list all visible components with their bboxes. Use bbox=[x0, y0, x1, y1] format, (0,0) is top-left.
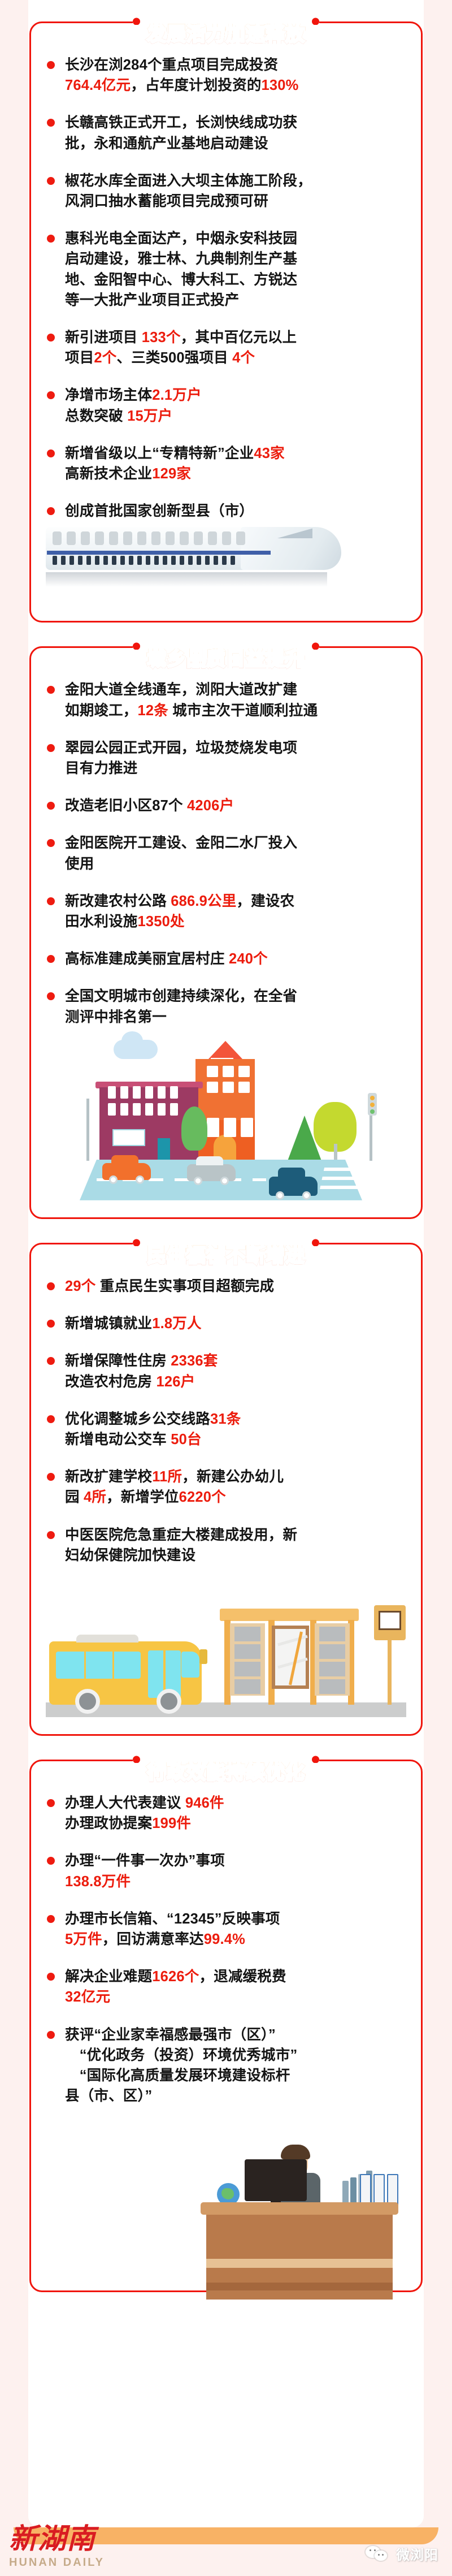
item-line: 使用 bbox=[65, 854, 406, 874]
list-item: 改造老旧小区87个 4206户 bbox=[46, 796, 406, 816]
highlight-value: 946件 bbox=[185, 1795, 224, 1811]
item-text: 等一大批产业项目正式投产 bbox=[65, 292, 239, 308]
item-line: 风洞口抽水蓄能项目完成预可研 bbox=[65, 191, 406, 211]
item-line: 椒花水库全面进入大坝主体施工阶段， bbox=[65, 171, 406, 191]
highlight-value: 1350处 bbox=[138, 914, 185, 930]
bus-stop-illustration bbox=[46, 1570, 406, 1717]
train-illustration bbox=[46, 525, 406, 591]
item-text: 新增电动公交车 bbox=[65, 1432, 171, 1447]
list-item: 全国文明城市创建持续深化，在全省测评中排名第一 bbox=[46, 986, 406, 1027]
item-text: 如期竣工， bbox=[65, 703, 138, 719]
list-item: 新改建农村公路 686.9公里，建设农田水利设施1350处 bbox=[46, 891, 406, 932]
item-line: 优化调整城乡公交线路31条 bbox=[65, 1409, 406, 1429]
card-top-notch bbox=[133, 641, 319, 651]
bullet-dot-icon bbox=[47, 1531, 55, 1539]
section-card-urban-rural-quality: 金阳大道全线通车，浏阳大道改扩建如期竣工，12条 城市主次干道顺利拉通翠园公园正… bbox=[29, 646, 423, 1218]
item-line: 测评中排名第一 bbox=[65, 1007, 406, 1027]
item-line: 新增城镇就业1.8万人 bbox=[65, 1313, 406, 1334]
item-text: 重点民生实事项目超额完成 bbox=[95, 1278, 274, 1294]
list-item: 解决企业难题1626个，退减缓税费32亿元 bbox=[46, 1966, 406, 2007]
item-text: ，占年度计划投资的 bbox=[131, 77, 261, 93]
item-text: 启动建设，雅士林、九典制剂生产基 bbox=[65, 251, 297, 267]
list-item: 长沙在浏284个重点项目完成投资764.4亿元，占年度计划投资的130% bbox=[46, 55, 406, 96]
bullet-dot-icon bbox=[47, 235, 55, 243]
item-text: 新引进项目 bbox=[65, 330, 142, 345]
list-item: 翠园公园正式开园，垃圾焚烧发电项目有力推进 bbox=[46, 738, 406, 779]
highlight-value: 31条 bbox=[210, 1411, 241, 1427]
item-text: 椒花水库全面进入大坝主体施工阶段， bbox=[65, 173, 312, 189]
item-line: 田水利设施1350处 bbox=[65, 911, 406, 932]
list-item: 中医医院危急重症大楼建成投用，新妇幼保健院加快建设 bbox=[46, 1525, 406, 1566]
item-line: 县（市、区）” bbox=[65, 2086, 406, 2106]
footer: 新湖南 HUNAN DAILY 微浏阳 bbox=[0, 2514, 452, 2576]
highlight-value: 12条 bbox=[138, 703, 168, 719]
section-card-peoples-livelihood: 29个 重点民生实事项目超额完成新增城镇就业1.8万人新增保障性住房 2336套… bbox=[29, 1243, 423, 1736]
list-item: 获评“企业家幸福感最强市（区）” “优化政务（投资）环境优秀城市” “国际化高质… bbox=[46, 2025, 406, 2107]
wechat-account-badge: 微浏阳 bbox=[366, 2544, 438, 2564]
item-line: 总数突破 15万户 bbox=[65, 406, 406, 426]
section-peoples-livelihood: 民生福祉不断增进29个 重点民生实事项目超额完成新增城镇就业1.8万人新增保障性… bbox=[29, 1221, 423, 1736]
item-text: 长沙在浏284个重点项目完成投资 bbox=[65, 57, 278, 73]
list-item: 惠科光电全面达产，中烟永安科技园启动建设，雅士林、九典制剂生产基地、金阳智中心、… bbox=[46, 228, 406, 310]
bullet-dot-icon bbox=[47, 1799, 55, 1807]
list-item: 高标准建成美丽宜居村庄 240个 bbox=[46, 949, 406, 969]
bullet-dot-icon bbox=[47, 391, 55, 399]
list-item: 新改扩建学校11所，新建公办幼儿园 4所，新增学位6220个 bbox=[46, 1467, 406, 1507]
item-line: 长赣高铁正式开工，长浏快线成功获 bbox=[65, 113, 406, 133]
card-top-notch bbox=[133, 1754, 319, 1765]
bullet-dot-icon bbox=[47, 1973, 55, 1981]
bullet-list: 办理人大代表建议 946件办理政协提案199件办理“一件事一次办”事项138.8… bbox=[46, 1793, 406, 2106]
item-text: 测评中排名第一 bbox=[65, 1009, 167, 1025]
item-line: 解决企业难题1626个，退减缓税费 bbox=[65, 1966, 406, 1987]
item-line: 新增电动公交车 50台 bbox=[65, 1429, 406, 1450]
item-line: 等一大批产业项目正式投产 bbox=[65, 290, 406, 310]
highlight-value: 4所 bbox=[84, 1489, 106, 1505]
notch-dot-right bbox=[312, 18, 319, 25]
item-text: 优化调整城乡公交线路 bbox=[65, 1411, 210, 1427]
bullet-dot-icon bbox=[47, 1282, 55, 1290]
bullet-dot-icon bbox=[47, 992, 55, 1000]
city-street-illustration bbox=[46, 1031, 406, 1200]
item-text: ，其中百亿元以上 bbox=[181, 330, 297, 345]
list-item: 新增保障性住房 2336套改造农村危房 126户 bbox=[46, 1351, 406, 1391]
bullet-dot-icon bbox=[47, 1320, 55, 1328]
item-text: 新增保障性住房 bbox=[65, 1353, 171, 1369]
section-card-administrative-efficiency: 办理人大代表建议 946件办理政协提案199件办理“一件事一次办”事项138.8… bbox=[29, 1760, 423, 2292]
item-text: 办理“一件事一次办”事项 bbox=[65, 1853, 225, 1869]
item-text: 高新技术企业 bbox=[65, 466, 152, 482]
bullet-dot-icon bbox=[47, 1915, 55, 1923]
item-text: ，回访满意率达 bbox=[102, 1931, 204, 1947]
item-text: 新改建农村公路 bbox=[65, 893, 171, 909]
list-item: 办理“一件事一次办”事项138.8万件 bbox=[46, 1851, 406, 1891]
item-text: 获评“企业家幸福感最强市（区）” bbox=[65, 2027, 276, 2043]
item-line: 批，永和通航产业基地启动建设 bbox=[65, 133, 406, 154]
publisher-logo: 新湖南 HUNAN DAILY bbox=[9, 2525, 105, 2569]
highlight-value: 50台 bbox=[171, 1432, 201, 1447]
highlight-value: 4个 bbox=[232, 350, 255, 366]
notch-dot-right bbox=[312, 643, 319, 650]
item-line: 中医医院危急重症大楼建成投用，新 bbox=[65, 1525, 406, 1545]
highlight-value: 240个 bbox=[229, 951, 268, 967]
notch-dot-right bbox=[312, 1756, 319, 1763]
notch-dot-left bbox=[133, 1239, 140, 1246]
item-line: 如期竣工，12条 城市主次干道顺利拉通 bbox=[65, 701, 406, 721]
sections-container: 发展活力加速释放长沙在浏284个重点项目完成投资764.4亿元，占年度计划投资的… bbox=[0, 0, 452, 2292]
item-line: 138.8万件 bbox=[65, 1872, 406, 1892]
bullet-list: 29个 重点民生实事项目超额完成新增城镇就业1.8万人新增保障性住房 2336套… bbox=[46, 1276, 406, 1566]
item-line: 改造老旧小区87个 4206户 bbox=[65, 796, 406, 816]
item-text: 、三类500强项目 bbox=[117, 350, 233, 366]
bullet-dot-icon bbox=[47, 1357, 55, 1365]
item-line: 翠园公园正式开园，垃圾焚烧发电项 bbox=[65, 738, 406, 758]
bullet-dot-icon bbox=[47, 1857, 55, 1865]
section-urban-rural-quality: 城乡品质日益提升金阳大道全线通车，浏阳大道改扩建如期竣工，12条 城市主次干道顺… bbox=[29, 625, 423, 1218]
item-line: 新改扩建学校11所，新建公办幼儿 bbox=[65, 1467, 406, 1487]
infographic-page: 发展活力加速释放长沙在浏284个重点项目完成投资764.4亿元，占年度计划投资的… bbox=[0, 0, 452, 2576]
item-text: 创成首批国家创新型县（市） bbox=[65, 503, 254, 519]
highlight-value: 764.4亿元 bbox=[65, 77, 131, 93]
item-line: 改造农村危房 126户 bbox=[65, 1372, 406, 1392]
item-text: 金阳大道全线通车，浏阳大道改扩建 bbox=[65, 682, 297, 698]
item-line: 园 4所，新增学位6220个 bbox=[65, 1487, 406, 1507]
item-line: 高新技术企业129家 bbox=[65, 464, 406, 484]
item-text: 长赣高铁正式开工，长浏快线成功获 bbox=[65, 115, 297, 131]
item-line: 地、金阳智中心、博大科工、方锐达 bbox=[65, 270, 406, 290]
item-line: 新引进项目 133个，其中百亿元以上 bbox=[65, 327, 406, 348]
item-line: 办理人大代表建议 946件 bbox=[65, 1793, 406, 1813]
bullet-dot-icon bbox=[47, 897, 55, 905]
highlight-value: 4206户 bbox=[187, 798, 234, 814]
item-line: “优化政务（投资）环境优秀城市” bbox=[65, 2045, 406, 2065]
item-line: 净增市场主体2.1万户 bbox=[65, 385, 406, 405]
item-line: 创成首批国家创新型县（市） bbox=[65, 501, 406, 521]
item-line: 获评“企业家幸福感最强市（区）” bbox=[65, 2025, 406, 2045]
bullet-dot-icon bbox=[47, 119, 55, 127]
item-line: 新改建农村公路 686.9公里，建设农 bbox=[65, 891, 406, 911]
item-text: 办理市长信箱、“12345”反映事项 bbox=[65, 1911, 280, 1927]
item-text: 批，永和通航产业基地启动建设 bbox=[65, 136, 268, 152]
list-item: 新增省级以上“专精特新”企业43家高新技术企业129家 bbox=[46, 443, 406, 484]
item-line: 办理市长信箱、“12345”反映事项 bbox=[65, 1909, 406, 1929]
item-line: 目有力推进 bbox=[65, 758, 406, 779]
item-text: 改造老旧小区87个 bbox=[65, 798, 187, 814]
item-line: 764.4亿元，占年度计划投资的130% bbox=[65, 75, 406, 96]
item-text: 风洞口抽水蓄能项目完成预可研 bbox=[65, 193, 268, 209]
section-development-vitality: 发展活力加速释放长沙在浏284个重点项目完成投资764.4亿元，占年度计划投资的… bbox=[29, 0, 423, 623]
list-item: 新引进项目 133个，其中百亿元以上项目2个、三类500强项目 4个 bbox=[46, 327, 406, 368]
item-text: ，新建公办幼儿 bbox=[182, 1469, 284, 1485]
notch-dot-left bbox=[133, 643, 140, 650]
bullet-list: 金阳大道全线通车，浏阳大道改扩建如期竣工，12条 城市主次干道顺利拉通翠园公园正… bbox=[46, 680, 406, 1027]
notch-dot-right bbox=[312, 1239, 319, 1246]
item-text: ，新增学位 bbox=[106, 1489, 179, 1505]
list-item: 金阳大道全线通车，浏阳大道改扩建如期竣工，12条 城市主次干道顺利拉通 bbox=[46, 680, 406, 720]
wechat-icon bbox=[366, 2546, 392, 2562]
item-line: 5万件，回访满意率达99.4% bbox=[65, 1929, 406, 1950]
item-text: 项目 bbox=[65, 350, 94, 366]
item-text: 新增城镇就业 bbox=[65, 1316, 152, 1332]
bullet-dot-icon bbox=[47, 61, 55, 69]
item-text: 高标准建成美丽宜居村庄 bbox=[65, 951, 229, 967]
bullet-dot-icon bbox=[47, 839, 55, 847]
item-line: “国际化高质量发展环境建设标杆 bbox=[65, 2065, 406, 2086]
highlight-value: 2336套 bbox=[171, 1353, 218, 1369]
item-line: 办理“一件事一次办”事项 bbox=[65, 1851, 406, 1871]
highlight-value: 5万件 bbox=[65, 1931, 102, 1947]
item-text: ，退减缓税费 bbox=[199, 1969, 286, 1985]
bullet-dot-icon bbox=[47, 507, 55, 515]
item-text: 解决企业难题 bbox=[65, 1969, 152, 1985]
bullet-dot-icon bbox=[47, 686, 55, 694]
item-line: 32亿元 bbox=[65, 1987, 406, 2007]
highlight-value: 199件 bbox=[152, 1816, 191, 1831]
item-line: 启动建设，雅士林、九典制剂生产基 bbox=[65, 249, 406, 269]
item-text: 新增省级以上“专精特新”企业 bbox=[65, 446, 254, 461]
item-line: 金阳医院开工建设、金阳二水厂投入 bbox=[65, 833, 406, 853]
bullet-list: 长沙在浏284个重点项目完成投资764.4亿元，占年度计划投资的130%长赣高铁… bbox=[46, 55, 406, 521]
highlight-value: 129家 bbox=[152, 466, 191, 482]
item-text: 办理人大代表建议 bbox=[65, 1795, 185, 1811]
list-item: 椒花水库全面进入大坝主体施工阶段，风洞口抽水蓄能项目完成预可研 bbox=[46, 171, 406, 211]
bullet-dot-icon bbox=[47, 1415, 55, 1423]
highlight-value: 1626个 bbox=[152, 1969, 199, 1985]
highlight-value: 11所 bbox=[152, 1469, 182, 1485]
item-line: 新增省级以上“专精特新”企业43家 bbox=[65, 443, 406, 464]
item-text: 改造农村危房 bbox=[65, 1374, 157, 1390]
section-administrative-efficiency: 行政效能持续优化办理人大代表建议 946件办理政协提案199件办理“一件事一次办… bbox=[29, 1738, 423, 2292]
item-text: ，建设农 bbox=[236, 893, 294, 909]
item-text: 县（市、区）” bbox=[65, 2088, 152, 2104]
item-line: 长沙在浏284个重点项目完成投资 bbox=[65, 55, 406, 75]
highlight-value: 43家 bbox=[254, 446, 284, 461]
item-text: 金阳医院开工建设、金阳二水厂投入 bbox=[65, 835, 297, 851]
item-line: 29个 重点民生实事项目超额完成 bbox=[65, 1276, 406, 1296]
list-item: 优化调整城乡公交线路31条新增电动公交车 50台 bbox=[46, 1409, 406, 1450]
notch-dot-left bbox=[133, 1756, 140, 1763]
list-item: 新增城镇就业1.8万人 bbox=[46, 1313, 406, 1334]
highlight-value: 130% bbox=[262, 77, 299, 93]
list-item: 办理市长信箱、“12345”反映事项5万件，回访满意率达99.4% bbox=[46, 1909, 406, 1950]
list-item: 办理人大代表建议 946件办理政协提案199件 bbox=[46, 1793, 406, 1834]
item-text: 城市主次干道顺利拉通 bbox=[168, 703, 318, 719]
list-item: 创成首批国家创新型县（市） bbox=[46, 501, 406, 521]
highlight-value: 686.9公里 bbox=[171, 893, 236, 909]
item-text: 地、金阳智中心、博大科工、方锐达 bbox=[65, 272, 297, 288]
list-item: 长赣高铁正式开工，长浏快线成功获批，永和通航产业基地启动建设 bbox=[46, 113, 406, 153]
card-top-notch bbox=[133, 1238, 319, 1248]
item-line: 高标准建成美丽宜居村庄 240个 bbox=[65, 949, 406, 969]
item-text: 翠园公园正式开园，垃圾焚烧发电项 bbox=[65, 740, 297, 756]
highlight-value: 2.1万户 bbox=[152, 387, 201, 403]
bullet-dot-icon bbox=[47, 177, 55, 185]
item-line: 新增保障性住房 2336套 bbox=[65, 1351, 406, 1371]
bullet-dot-icon bbox=[47, 802, 55, 810]
notch-dot-left bbox=[133, 18, 140, 25]
office-desk-illustration bbox=[46, 2110, 406, 2274]
highlight-value: 138.8万件 bbox=[65, 1874, 131, 1890]
item-text: 妇幼保健院加快建设 bbox=[65, 1548, 195, 1563]
item-line: 全国文明城市创建持续深化，在全省 bbox=[65, 986, 406, 1006]
highlight-value: 32亿元 bbox=[65, 1989, 110, 2005]
item-line: 金阳大道全线通车，浏阳大道改扩建 bbox=[65, 680, 406, 700]
list-item: 金阳医院开工建设、金阳二水厂投入使用 bbox=[46, 833, 406, 874]
item-line: 惠科光电全面达产，中烟永安科技园 bbox=[65, 228, 406, 249]
item-text: 办理政协提案 bbox=[65, 1816, 152, 1831]
item-text: 园 bbox=[65, 1489, 84, 1505]
card-top-notch bbox=[133, 16, 319, 27]
item-line: 办理政协提案199件 bbox=[65, 1813, 406, 1834]
list-item: 净增市场主体2.1万户总数突破 15万户 bbox=[46, 385, 406, 426]
bullet-dot-icon bbox=[47, 334, 55, 342]
highlight-value: 126户 bbox=[157, 1374, 195, 1390]
item-text: “国际化高质量发展环境建设标杆 bbox=[65, 2068, 290, 2084]
item-text: 新改扩建学校 bbox=[65, 1469, 152, 1485]
wechat-account-name: 微浏阳 bbox=[396, 2544, 438, 2564]
item-text: “优化政务（投资）环境优秀城市” bbox=[65, 2047, 297, 2063]
item-text: 中医医院危急重症大楼建成投用，新 bbox=[65, 1527, 297, 1543]
item-text: 全国文明城市创建持续深化，在全省 bbox=[65, 988, 297, 1004]
highlight-value: 99.4% bbox=[204, 1931, 245, 1947]
item-text: 目有力推进 bbox=[65, 760, 138, 776]
item-text: 使用 bbox=[65, 856, 94, 872]
item-text: 惠科光电全面达产，中烟永安科技园 bbox=[65, 231, 297, 247]
bullet-dot-icon bbox=[47, 955, 55, 963]
bullet-dot-icon bbox=[47, 744, 55, 752]
item-line: 项目2个、三类500强项目 4个 bbox=[65, 348, 406, 368]
highlight-value: 6220个 bbox=[179, 1489, 226, 1505]
item-line: 妇幼保健院加快建设 bbox=[65, 1545, 406, 1566]
highlight-value: 29个 bbox=[65, 1278, 95, 1294]
publisher-name-en: HUNAN DAILY bbox=[9, 2556, 105, 2569]
item-text: 田水利设施 bbox=[65, 914, 138, 930]
bullet-dot-icon bbox=[47, 449, 55, 457]
highlight-value: 133个 bbox=[142, 330, 181, 345]
item-text: 净增市场主体 bbox=[65, 387, 152, 403]
list-item: 29个 重点民生实事项目超额完成 bbox=[46, 1276, 406, 1296]
item-text: 总数突破 bbox=[65, 408, 127, 424]
highlight-value: 2个 bbox=[94, 350, 116, 366]
highlight-value: 15万户 bbox=[127, 408, 172, 424]
section-card-development-vitality: 长沙在浏284个重点项目完成投资764.4亿元，占年度计划投资的130%长赣高铁… bbox=[29, 21, 423, 623]
publisher-name-cn: 新湖南 bbox=[9, 2525, 105, 2553]
highlight-value: 1.8万人 bbox=[152, 1316, 201, 1332]
bullet-dot-icon bbox=[47, 1473, 55, 1481]
bullet-dot-icon bbox=[47, 2031, 55, 2039]
